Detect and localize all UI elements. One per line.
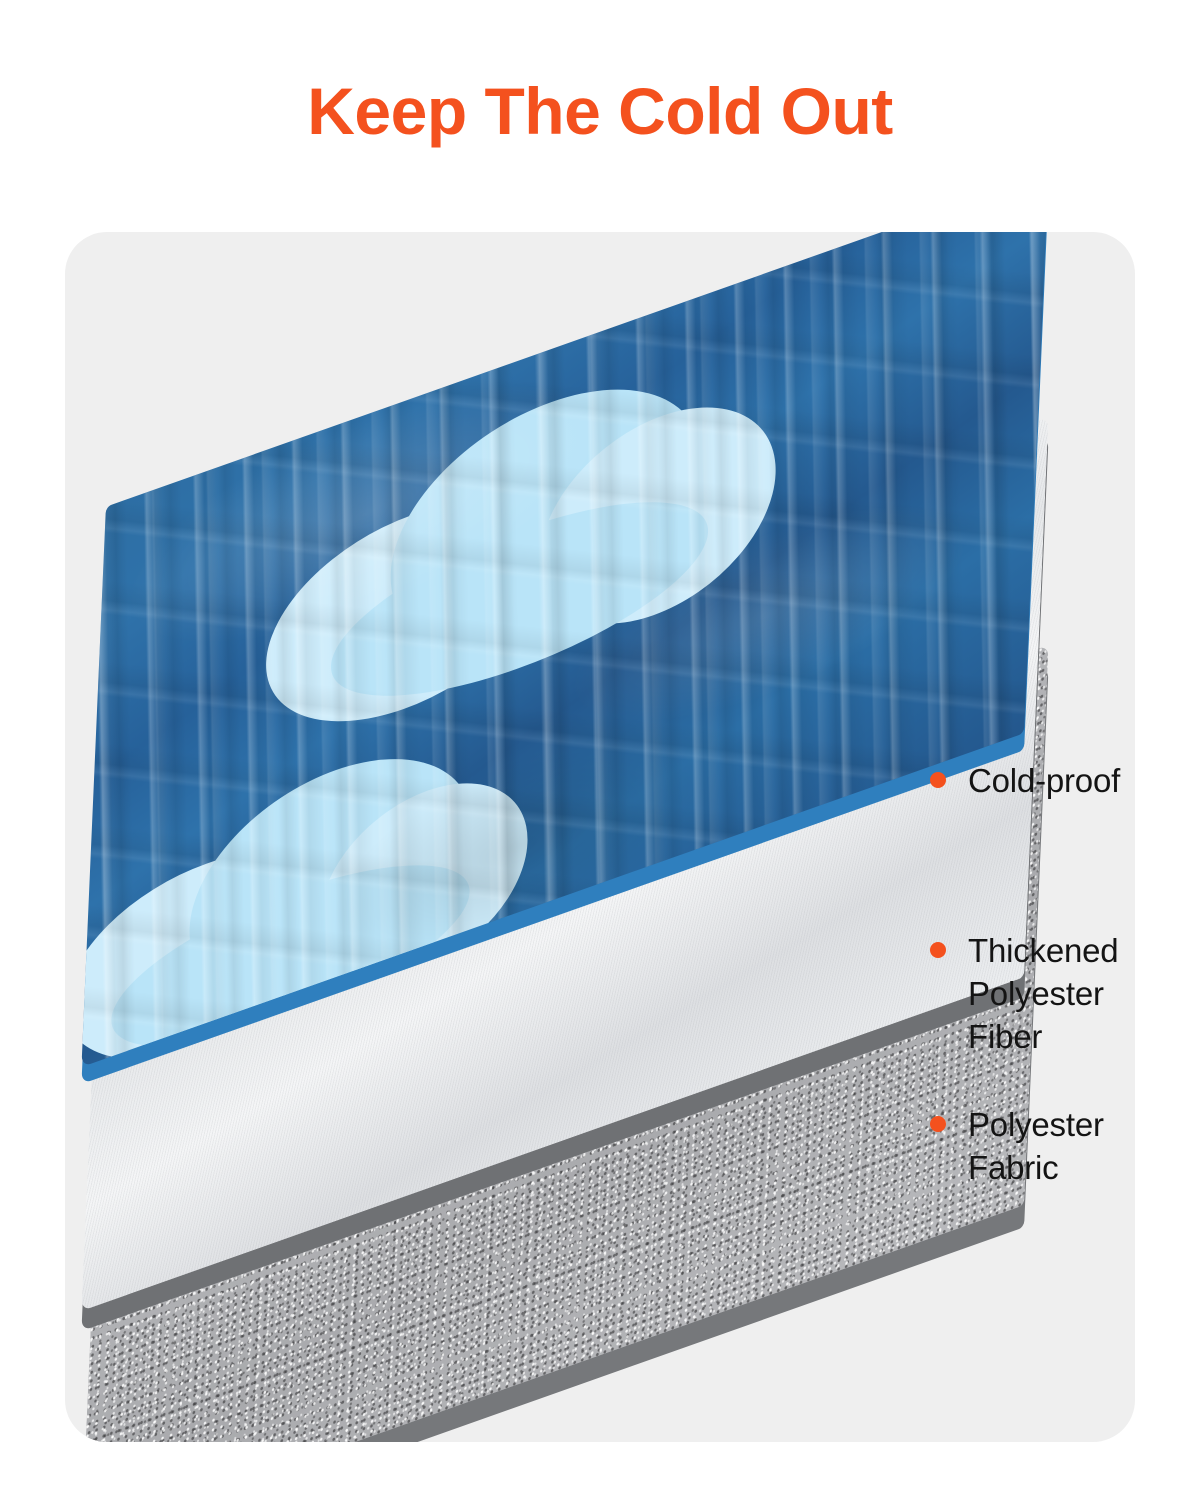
callout-polyester-fabric: Polyester Fabric bbox=[930, 1104, 1104, 1190]
bullet-dot-icon bbox=[930, 772, 946, 788]
callout-label: Thickened Polyester Fiber bbox=[968, 930, 1135, 1059]
bullet-dot-icon bbox=[930, 942, 946, 958]
material-layer-stack bbox=[65, 232, 1135, 1442]
callout-label: Cold-proof bbox=[968, 760, 1120, 803]
illustration-card: Cold-proof Thickened Polyester Fiber Pol… bbox=[65, 232, 1135, 1442]
page-title: Keep The Cold Out bbox=[0, 78, 1200, 144]
infographic-page: Keep The Cold Out bbox=[0, 0, 1200, 1500]
callout-label: Polyester Fabric bbox=[968, 1104, 1104, 1190]
callout-cold-proof: Cold-proof bbox=[930, 760, 1120, 803]
callout-thickened-polyester-fiber: Thickened Polyester Fiber bbox=[930, 930, 1135, 1059]
bullet-dot-icon bbox=[930, 1116, 946, 1132]
